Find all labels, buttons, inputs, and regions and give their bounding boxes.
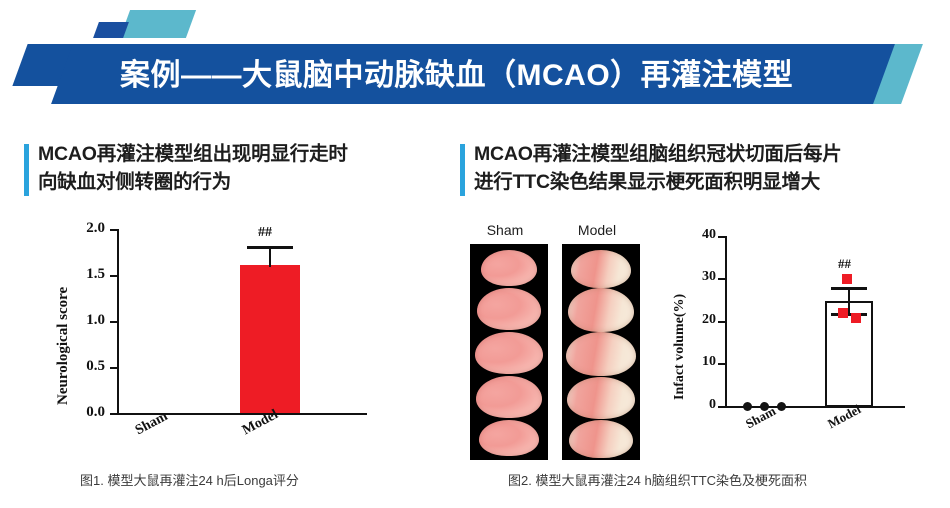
left-chart-ytick-mark bbox=[110, 413, 118, 415]
right-chart-ytick-mark bbox=[718, 363, 726, 365]
brain-slice bbox=[566, 332, 636, 376]
right-chart-ytick-mark bbox=[718, 406, 726, 408]
left-heading-line-1: MCAO再灌注模型组出现明显行走时 bbox=[38, 140, 444, 168]
brain-slice bbox=[479, 420, 539, 456]
left-chart-errorbar-model bbox=[269, 247, 271, 267]
brain-slice-figure: Sham Model bbox=[465, 222, 645, 462]
left-chart-ytick-label: 0.0 bbox=[63, 404, 105, 421]
brain-slice bbox=[477, 288, 541, 330]
right-chart-point-sham bbox=[777, 402, 786, 411]
brain-slice bbox=[569, 420, 633, 458]
right-chart-point-model bbox=[851, 313, 861, 323]
brain-slice bbox=[568, 288, 634, 332]
left-chart-y-axis-label: Neurological score bbox=[55, 287, 72, 405]
left-chart-ytick-mark bbox=[110, 321, 118, 323]
right-chart-point-model bbox=[842, 274, 852, 284]
left-chart-ytick-mark bbox=[110, 229, 118, 231]
right-chart-ytick-mark bbox=[718, 321, 726, 323]
right-chart-errorbar-model bbox=[848, 288, 850, 314]
left-panel: MCAO再灌注模型组出现明显行走时 向缺血对侧转圈的行为 bbox=[24, 140, 444, 196]
right-chart-ytick-label: 40 bbox=[682, 227, 716, 243]
figure-2-caption: 图2. 模型大鼠再灌注24 h脑组织TTC染色及梗死面积 bbox=[508, 470, 807, 489]
right-section-heading: MCAO再灌注模型组脑组织冠状切面后每片 进行TTC染色结果显示梗死面积明显增大 bbox=[460, 140, 930, 196]
left-heading-accent-bar bbox=[24, 144, 29, 196]
brain-slice bbox=[481, 250, 537, 286]
right-chart-ytick-label: 30 bbox=[682, 269, 716, 285]
left-chart-significance-label: ## bbox=[258, 225, 272, 241]
right-panel: MCAO再灌注模型组脑组织冠状切面后每片 进行TTC染色结果显示梗死面积明显增大 bbox=[460, 140, 930, 196]
right-chart-y-axis-label: Infact volume(%) bbox=[672, 294, 688, 400]
brain-column-label-sham: Sham bbox=[465, 222, 545, 238]
brain-plate-sham bbox=[470, 244, 548, 460]
left-chart-ytick-label: 1.5 bbox=[63, 266, 105, 283]
right-chart-errorbar-cap-upper bbox=[831, 287, 867, 290]
right-chart-point-sham bbox=[743, 402, 752, 411]
brain-plate-model bbox=[562, 244, 640, 460]
right-heading-accent-bar bbox=[460, 144, 465, 196]
left-section-heading: MCAO再灌注模型组出现明显行走时 向缺血对侧转圈的行为 bbox=[24, 140, 444, 196]
brain-slice bbox=[567, 377, 635, 419]
header-teal-accent-top bbox=[120, 10, 196, 38]
brain-slice bbox=[475, 332, 543, 374]
page-title: 案例——大鼠脑中动脉缺血（MCAO）再灌注模型 bbox=[120, 56, 910, 96]
right-chart-errorbar-cap-lower bbox=[831, 313, 867, 316]
left-chart-bar-model bbox=[240, 265, 300, 413]
right-chart-x-axis bbox=[725, 406, 905, 408]
left-chart-errorbar-cap-model bbox=[247, 246, 293, 249]
right-chart-ytick-mark bbox=[718, 236, 726, 238]
right-chart-significance-label: ## bbox=[838, 256, 851, 272]
right-heading-line-2: 进行TTC染色结果显示梗死面积明显增大 bbox=[474, 168, 930, 196]
brain-slice bbox=[571, 250, 631, 288]
chart-infarct-volume: 40 30 20 10 0 Infact volume(%) ## Sham M… bbox=[670, 232, 925, 457]
left-chart-ytick-mark bbox=[110, 275, 118, 277]
right-chart-ytick-mark bbox=[718, 278, 726, 280]
header-blue-accent-small bbox=[93, 22, 129, 38]
right-chart-bar-model bbox=[825, 301, 873, 407]
brain-slice bbox=[476, 376, 542, 418]
chart-neurological-score: 2.0 1.5 1.0 0.5 0.0 Neurological score #… bbox=[55, 225, 375, 455]
right-chart-point-model bbox=[838, 308, 848, 318]
brain-column-label-model: Model bbox=[557, 222, 637, 238]
right-heading-line-1: MCAO再灌注模型组脑组织冠状切面后每片 bbox=[474, 140, 930, 168]
left-chart-ytick-mark bbox=[110, 367, 118, 369]
page-header: 案例——大鼠脑中动脉缺血（MCAO）再灌注模型 bbox=[0, 0, 950, 125]
left-chart-ytick-label: 2.0 bbox=[63, 220, 105, 237]
figure-1-caption: 图1. 模型大鼠再灌注24 h后Longa评分 bbox=[80, 470, 299, 489]
left-heading-line-2: 向缺血对侧转圈的行为 bbox=[38, 168, 444, 196]
